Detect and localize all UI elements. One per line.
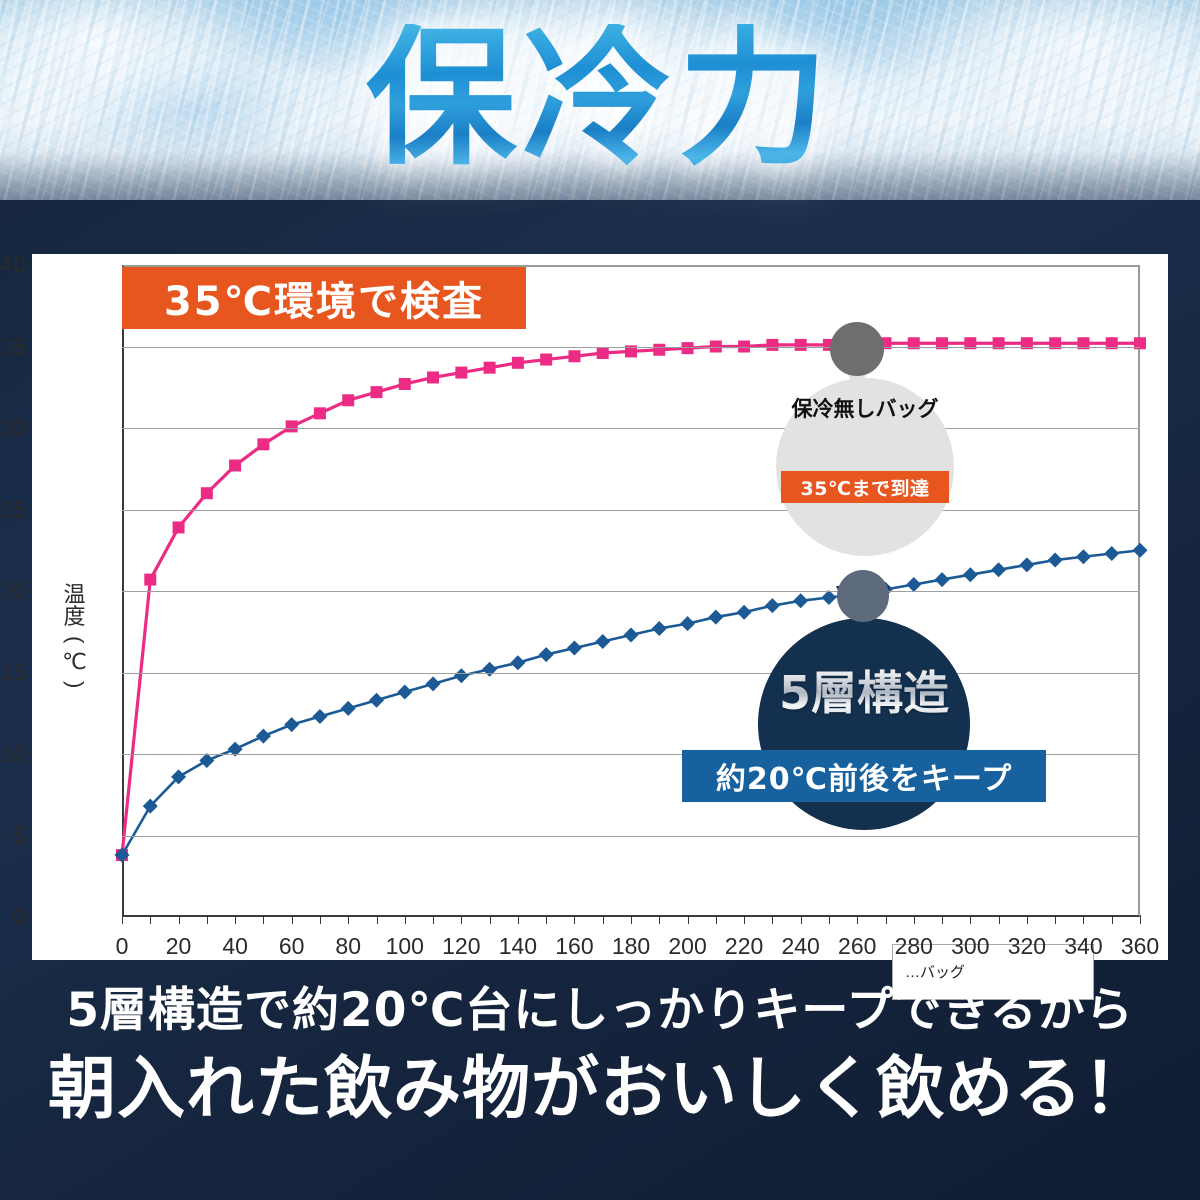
x-axis-tick [688, 915, 689, 924]
series-marker [482, 662, 497, 677]
x-axis-tick [1083, 915, 1084, 924]
x-axis-tick-label: 180 [612, 933, 650, 960]
x-axis-tick [1055, 915, 1056, 924]
x-axis-tick [886, 915, 887, 924]
y-axis-tick-label: 30 [0, 415, 26, 442]
x-axis-tick [292, 915, 293, 924]
x-axis-tick-label: 200 [668, 933, 706, 960]
series-marker [256, 729, 271, 744]
x-axis-tick [829, 915, 830, 924]
y-axis-tick-label: 5 [13, 822, 26, 849]
x-axis-tick-label: 340 [1064, 933, 1102, 960]
test-condition-banner: 35℃環境で検査 [122, 267, 526, 329]
x-axis-tick [772, 915, 773, 924]
poster-root: 保冷力 温度(℃) …バッグ 0510152025303540020406080… [0, 0, 1200, 1200]
series-marker [708, 610, 723, 625]
series-marker [652, 621, 667, 636]
x-axis-tick-label: 160 [555, 933, 593, 960]
x-axis-tick [970, 915, 971, 924]
x-axis-tick [744, 915, 745, 924]
y-axis-title-char: ( [64, 623, 86, 657]
x-axis-tick [716, 915, 717, 924]
series-marker [257, 438, 269, 450]
x-axis-tick-label: 80 [335, 933, 361, 960]
series-marker [624, 628, 639, 643]
series-marker [766, 339, 778, 351]
x-axis-tick-label: 140 [499, 933, 537, 960]
x-axis-tick [179, 915, 180, 924]
series-marker [199, 753, 214, 768]
series-marker [567, 641, 582, 656]
x-axis-tick [914, 915, 915, 924]
series-marker [991, 562, 1006, 577]
x-axis-tick [857, 915, 858, 924]
y-axis-title-char: 温 [58, 584, 92, 606]
footer-copy: 5層構造で約20℃台にしっかりキープできるから 朝入れた飲み物がおいしく飲める！ [0, 985, 1200, 1129]
chart-panel: 温度(℃) …バッグ 05101520253035400204060801001… [32, 254, 1168, 960]
x-axis-tick [801, 915, 802, 924]
series-marker [314, 407, 326, 419]
callout-no-cooler-marker-dot [830, 322, 884, 376]
series-marker [821, 590, 836, 605]
series-marker [737, 605, 752, 620]
y-axis-tick-label: 25 [0, 496, 26, 523]
series-marker [173, 521, 185, 533]
series-marker [1048, 553, 1063, 568]
series-line-2 [122, 550, 1140, 855]
y-axis-tick-label: 40 [0, 252, 26, 279]
x-axis-tick [377, 915, 378, 924]
x-axis-tick [461, 915, 462, 924]
x-axis-tick [518, 915, 519, 924]
y-gridline [122, 428, 1140, 429]
x-axis-tick [433, 915, 434, 924]
x-axis-tick-label: 280 [895, 933, 933, 960]
series-marker [963, 567, 978, 582]
y-gridline [122, 673, 1140, 674]
x-axis-tick-label: 60 [279, 933, 305, 960]
series-marker [682, 342, 694, 354]
y-axis-tick-label: 0 [13, 904, 26, 931]
x-axis-tick [942, 915, 943, 924]
x-axis-tick-label: 320 [1008, 933, 1046, 960]
y-gridline [122, 510, 1140, 511]
callout-five-layer-banner: 約20℃前後をキープ [682, 750, 1046, 802]
x-axis-tick-label: 20 [166, 933, 192, 960]
x-axis-tick [659, 915, 660, 924]
y-axis-title: 温度(℃) [58, 584, 92, 696]
legend-label-partial: …バッグ [905, 961, 965, 982]
footer-line-2: 朝入れた飲み物がおいしく飲める！ [0, 1051, 1200, 1129]
series-marker [284, 717, 299, 732]
x-axis-tick-label: 300 [951, 933, 989, 960]
series-marker [1019, 557, 1034, 572]
series-marker [426, 676, 441, 691]
series-marker [540, 354, 552, 366]
series-marker [906, 577, 921, 592]
series-marker [795, 339, 807, 351]
x-axis-tick [1112, 915, 1113, 924]
callout-five-layer-marker-dot [837, 570, 889, 622]
series-marker [369, 693, 384, 708]
x-axis-tick-label: 40 [222, 933, 248, 960]
series-marker [399, 378, 411, 390]
x-axis-tick-label: 100 [386, 933, 424, 960]
series-marker [455, 367, 467, 379]
x-axis-tick [207, 915, 208, 924]
series-marker [765, 598, 780, 613]
y-axis-tick-label: 10 [0, 741, 26, 768]
series-marker [935, 572, 950, 587]
series-marker [512, 357, 524, 369]
series-marker [510, 655, 525, 670]
x-axis-tick-label: 260 [838, 933, 876, 960]
y-gridline [122, 836, 1140, 837]
series-marker [793, 593, 808, 608]
x-axis-tick [235, 915, 236, 924]
series-marker [597, 347, 609, 359]
callout-five-layer-banner-label: 約20℃前後をキープ [716, 754, 1012, 798]
x-axis-tick [999, 915, 1000, 924]
x-axis-tick [263, 915, 264, 924]
plot-area: …バッグ 05101520253035400204060801001201401… [122, 265, 1140, 917]
footer-line-1: 5層構造で約20℃台にしっかりキープできるから [0, 985, 1200, 1037]
x-axis-tick-label: 220 [725, 933, 763, 960]
page-title: 保冷力 [0, 24, 1200, 174]
y-gridline [122, 591, 1140, 592]
x-axis-tick [631, 915, 632, 924]
series-marker [595, 634, 610, 649]
series-marker [371, 386, 383, 398]
y-axis-tick-label: 20 [0, 578, 26, 605]
x-axis-tick [546, 915, 547, 924]
callout-no-cooler-title: 保冷無しバッグ [776, 396, 954, 424]
series-marker [1104, 546, 1119, 561]
x-axis-tick [490, 915, 491, 924]
series-marker [397, 685, 412, 700]
x-axis-tick [1027, 915, 1028, 924]
series-marker [342, 394, 354, 406]
series-marker [229, 459, 241, 471]
x-axis-tick [122, 915, 123, 924]
x-axis-tick [320, 915, 321, 924]
series-marker [341, 701, 356, 716]
series-marker [312, 709, 327, 724]
series-marker [680, 616, 695, 631]
callout-no-cooler-banner-label: 35℃まで到達 [801, 474, 930, 501]
series-marker [454, 668, 469, 683]
series-marker [1133, 543, 1148, 558]
y-axis-tick-label: 15 [0, 659, 26, 686]
x-axis-tick-label: 240 [781, 933, 819, 960]
x-axis-tick-label: 120 [442, 933, 480, 960]
callout-no-cooler-banner: 35℃まで到達 [781, 471, 949, 503]
series-marker [539, 647, 554, 662]
x-axis-tick [574, 915, 575, 924]
y-axis-title-char: ) [64, 668, 86, 702]
series-marker [1076, 549, 1091, 564]
series-marker [144, 574, 156, 586]
series-marker [427, 371, 439, 383]
series-marker [484, 362, 496, 374]
x-axis-tick [405, 915, 406, 924]
x-axis-tick [150, 915, 151, 924]
y-gridline [122, 347, 1140, 348]
test-condition-label: 35℃環境で検査 [164, 269, 484, 327]
callout-five-layer-title: 5層構造 [748, 657, 980, 723]
x-axis-tick [603, 915, 604, 924]
x-axis-tick-label: 0 [116, 933, 129, 960]
series-marker [568, 350, 580, 362]
x-axis-tick [1140, 915, 1141, 924]
y-axis-tick-label: 35 [0, 333, 26, 360]
x-axis-tick-label: 360 [1121, 933, 1159, 960]
series-marker [201, 487, 213, 499]
x-axis-tick [348, 915, 349, 924]
series-marker [286, 420, 298, 432]
